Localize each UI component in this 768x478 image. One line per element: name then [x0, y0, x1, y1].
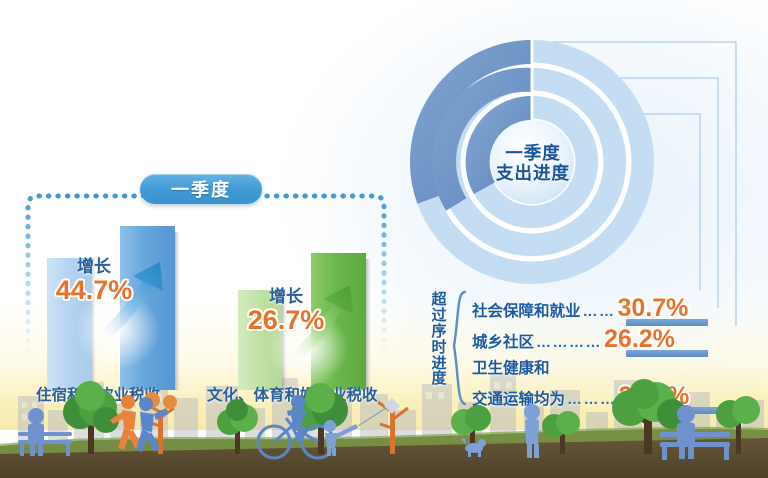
growth-label-group-1: 增长 44.7%: [46, 258, 142, 306]
legend-name-2: 城乡社区: [472, 330, 534, 352]
quarter-badge-label: 一季度: [171, 176, 231, 202]
park-scene-illustration: [0, 368, 768, 478]
legend-name-1: 社会保障和就业: [472, 299, 581, 321]
growth-text-1: 增长: [46, 258, 142, 275]
growth-text-2: 增长: [238, 288, 334, 305]
expenditure-donut-chart: [408, 38, 656, 286]
quarter-badge: 一季度: [140, 174, 262, 204]
growth-value-1: 44.7%: [46, 275, 142, 306]
growth-value-2: 26.7%: [238, 305, 334, 336]
legend-dots-2: …………: [534, 334, 604, 351]
growth-label-group-2: 增长 26.7%: [238, 288, 334, 336]
infographic-canvas: 一季度: [0, 0, 768, 478]
legend-dots-1: ……: [581, 303, 618, 320]
legend-underline-2: [626, 350, 708, 357]
